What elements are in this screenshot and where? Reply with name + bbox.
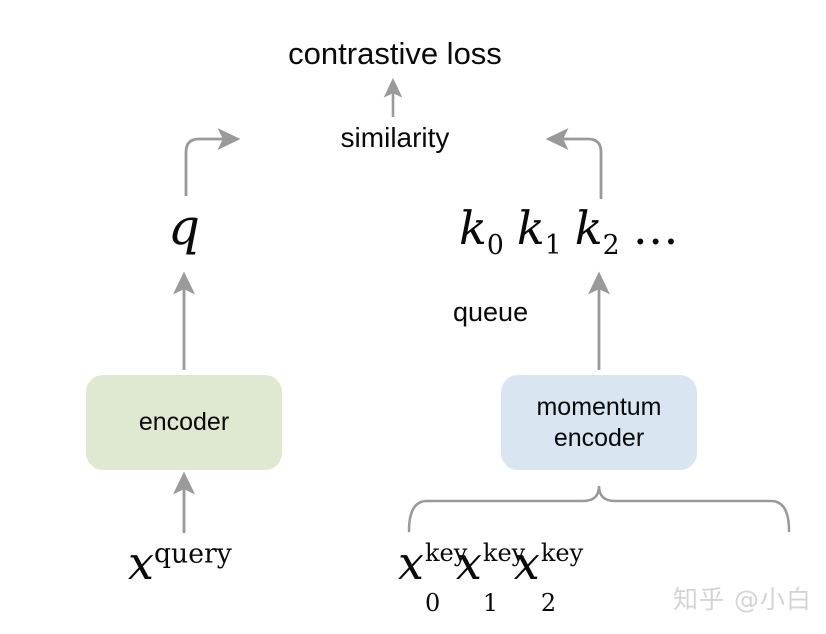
query-representation-var: q — [168, 198, 200, 256]
query-representation-symbol: q — [168, 202, 200, 252]
key-input-2-subscript: 2 — [541, 591, 556, 615]
similarity-label: similarity — [0, 124, 790, 152]
key-representation-0: k0 — [459, 201, 504, 255]
key-representations-ellipsis: … — [633, 201, 681, 255]
key-representation-0-subscript: 0 — [487, 230, 504, 261]
momentum-encoder-box-label-line2: encoder — [554, 424, 644, 452]
key-representation-2: k2 — [575, 201, 620, 255]
key-input-2-superscript: key — [541, 541, 583, 565]
encoder-box[interactable]: encoder — [86, 375, 282, 470]
momentum-encoder-box-label: momentum encoder — [536, 392, 661, 453]
key-representation-2-var: k — [575, 201, 603, 255]
key-representation-0-var: k — [459, 201, 487, 255]
key-representation-1-var: k — [517, 201, 545, 255]
moco-architecture-diagram: contrastive loss similarity q k0k1k2… qu… — [0, 0, 826, 634]
key-input-0: xkey0 — [398, 536, 424, 590]
query-input-var: x — [128, 536, 154, 590]
page-title: contrastive loss — [0, 38, 790, 69]
key-input-symbols: xkey0xkey1xkey2 — [398, 540, 572, 586]
query-input-superscript: query — [154, 539, 232, 570]
momentum-encoder-box-label-line1: momentum — [536, 393, 661, 421]
query-input-symbol: xquery — [128, 540, 232, 586]
key-input-1-subscript: 1 — [483, 591, 498, 615]
encoder-box-label: encoder — [139, 407, 229, 438]
key-input-0-var: x — [398, 536, 424, 590]
brace-key-inputs — [409, 486, 789, 531]
key-representation-1: k1 — [517, 201, 562, 255]
watermark: 知乎 @小白 — [673, 580, 812, 616]
key-representations-symbols: k0k1k2… — [459, 205, 681, 260]
key-representation-2-subscript: 2 — [603, 230, 620, 261]
key-input-1-superscript: key — [483, 541, 525, 565]
queue-label: queue — [453, 299, 528, 326]
key-input-0-subscript: 0 — [425, 591, 440, 615]
momentum-encoder-box[interactable]: momentum encoder — [501, 375, 697, 470]
key-input-0-superscript: key — [425, 541, 467, 565]
key-representation-1-subscript: 1 — [545, 230, 562, 261]
